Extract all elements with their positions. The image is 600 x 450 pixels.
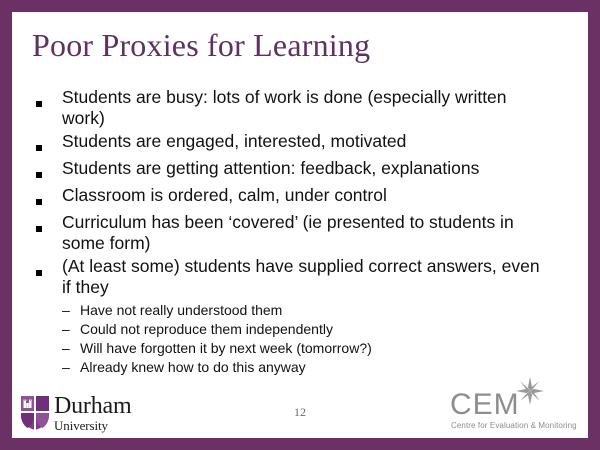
list-item-text: Curriculum has been ‘covered’ (ie presen… <box>62 212 572 254</box>
list-item-text: Classroom is ordered, calm, under contro… <box>62 185 572 206</box>
durham-wordmark: Durham University <box>54 394 131 432</box>
list-item: Classroom is ordered, calm, under contro… <box>32 185 572 210</box>
square-bullet-icon <box>32 158 62 183</box>
sub-list-item: – Already knew how to do this anyway <box>62 358 572 377</box>
square-bullet-icon <box>32 212 62 237</box>
durham-name: Durham <box>54 394 131 418</box>
sub-list-item-text: Already knew how to do this anyway <box>80 358 572 377</box>
list-item-text: Students are busy: lots of work is done … <box>62 87 572 129</box>
sub-list-item-text: Will have forgotten it by next week (tom… <box>80 339 572 358</box>
dash-bullet-icon: – <box>62 339 80 358</box>
list-item: Curriculum has been ‘covered’ (ie presen… <box>32 212 572 254</box>
list-item: Students are engaged, interested, motiva… <box>32 131 572 156</box>
sub-list-item: – Could not reproduce them independently <box>62 320 572 339</box>
cem-wordmark: CEM <box>438 390 578 420</box>
list-item: Students are busy: lots of work is done … <box>32 87 572 129</box>
dash-bullet-icon: – <box>62 358 80 377</box>
cem-tagline: Centre for Evaluation & Monitoring <box>438 421 578 430</box>
dash-bullet-icon: – <box>62 301 80 320</box>
durham-subtitle: University <box>54 419 131 432</box>
list-item-text: Students are getting attention: feedback… <box>62 158 572 179</box>
sub-list-item-text: Could not reproduce them independently <box>80 320 572 339</box>
cem-star-icon <box>516 377 544 405</box>
sub-list-item: – Have not really understood them <box>62 301 572 320</box>
cem-logo: CEM Centre for Evaluation & Monitoring <box>438 390 578 430</box>
bullet-list: Students are busy: lots of work is done … <box>32 87 572 377</box>
square-bullet-icon <box>32 87 62 112</box>
durham-shield-icon <box>20 395 50 431</box>
list-item-text: (At least some) students have supplied c… <box>62 256 572 298</box>
square-bullet-icon <box>32 256 62 281</box>
list-item: (At least some) students have supplied c… <box>32 256 572 298</box>
sub-list-item: – Will have forgotten it by next week (t… <box>62 339 572 358</box>
page-title: Poor Proxies for Learning <box>32 26 370 64</box>
dash-bullet-icon: – <box>62 320 80 339</box>
list-item: Students are getting attention: feedback… <box>32 158 572 183</box>
slide: Poor Proxies for Learning Students are b… <box>0 0 600 450</box>
durham-university-logo: Durham University <box>20 394 131 432</box>
square-bullet-icon <box>32 131 62 156</box>
slide-content-area: Poor Proxies for Learning Students are b… <box>12 12 588 438</box>
square-bullet-icon <box>32 185 62 210</box>
list-item-text: Students are engaged, interested, motiva… <box>62 131 572 152</box>
sub-list-item-text: Have not really understood them <box>80 301 572 320</box>
sub-bullet-list: – Have not really understood them – Coul… <box>62 301 572 377</box>
